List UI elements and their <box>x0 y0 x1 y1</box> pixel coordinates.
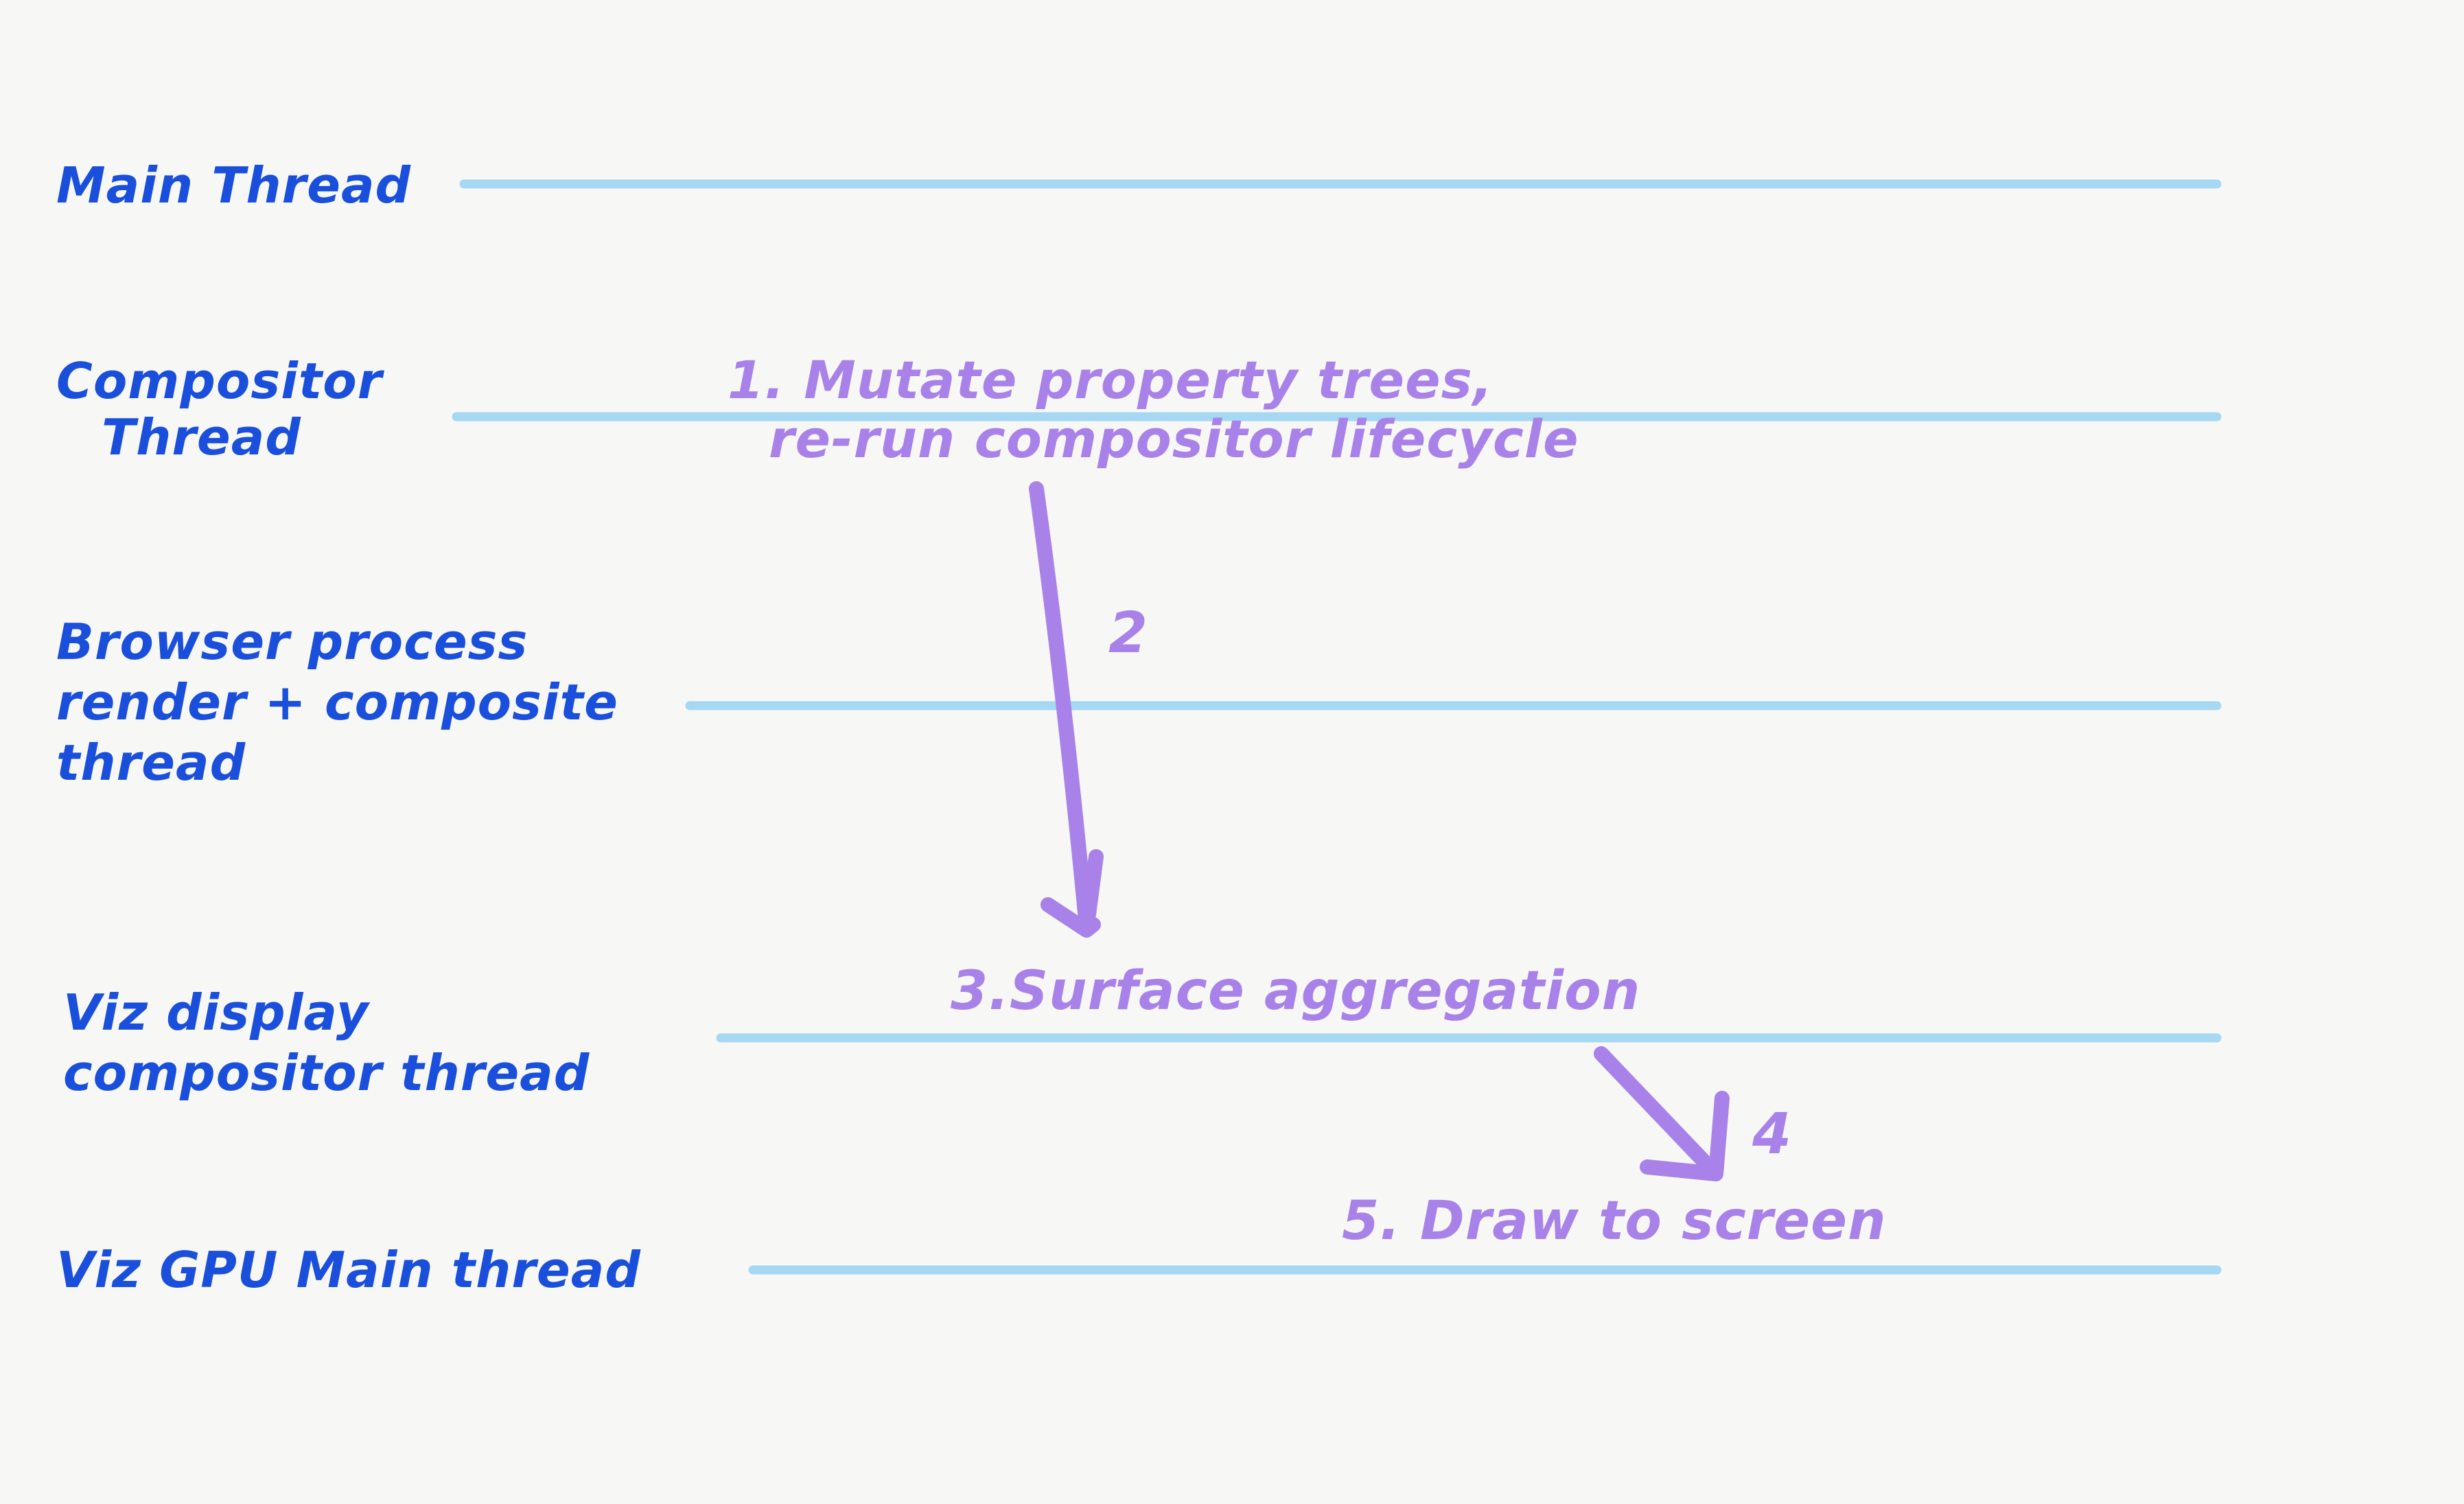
thread-label-line: thread <box>56 734 246 791</box>
step-3-label: 3.Surface aggregation <box>951 960 1640 1022</box>
thread-label-browser-process-thread: Browser process render + composite threa… <box>56 613 636 791</box>
thread-label-viz-display-compositor-thread: Viz display compositor thread <box>63 984 590 1102</box>
step-5-label: 5. Draw to screen <box>1342 1190 1887 1252</box>
thread-label-line: Thread <box>102 408 301 466</box>
thread-label-line: Compositor <box>56 352 385 410</box>
step-4-label: 4 <box>1752 1102 1792 1167</box>
thread-label-line: Browser process <box>56 613 528 671</box>
thread-label-main-thread: Main Thread <box>56 157 412 214</box>
timeline-lines <box>456 184 2217 1270</box>
thread-label-compositor-thread: Compositor Thread <box>56 352 400 466</box>
thread-labels: Main Thread Compositor Thread Browser pr… <box>56 157 641 1299</box>
thread-label-line: Viz display <box>63 984 371 1041</box>
thread-label-line: Main Thread <box>56 157 412 214</box>
thread-label-line: Viz GPU Main thread <box>56 1241 641 1299</box>
thread-label-line: compositor thread <box>63 1044 590 1102</box>
step-1-line: 1. Mutate property trees, <box>728 349 1493 410</box>
thread-label-viz-gpu-main-thread: Viz GPU Main thread <box>56 1241 641 1299</box>
step-arrows <box>1036 489 1722 1174</box>
swimlane-diagram: Main Thread Compositor Thread Browser pr… <box>0 0 2464 1504</box>
thread-label-line: render + composite <box>56 673 618 731</box>
step-2-label: 2 <box>1108 601 1148 666</box>
step-1-line: re-run compositor lifecycle <box>769 408 1579 470</box>
arrow-step-4 <box>1601 1054 1722 1174</box>
step-annotations: 1. Mutate property trees, re-run composi… <box>728 349 1887 1252</box>
arrow-shaft <box>1601 1054 1716 1174</box>
diagram-canvas: Main Thread Compositor Thread Browser pr… <box>0 0 2464 1504</box>
step-1-label: 1. Mutate property trees, re-run composi… <box>728 349 1579 470</box>
arrow-head <box>1048 857 1096 930</box>
